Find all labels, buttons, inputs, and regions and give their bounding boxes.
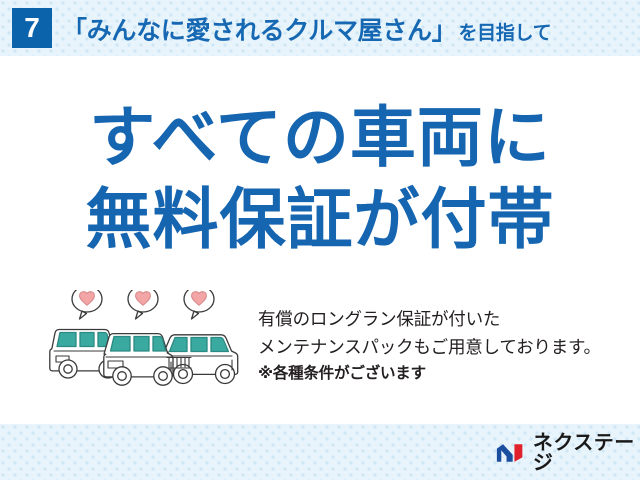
- header-title-suffix: を目指して: [458, 18, 551, 45]
- car-minivan: [104, 334, 173, 386]
- section-number-badge: 7: [12, 8, 52, 48]
- body-copy-line-2: メンテナンスパックもご用意しております。: [258, 333, 630, 361]
- body-copy-line-1: 有償のロングラン保証が付いた: [258, 305, 630, 333]
- brand-logo: ネクステージ: [496, 439, 640, 467]
- heart-bubble-2: [128, 290, 158, 319]
- headline-line-1: すべての車両に: [0, 96, 640, 178]
- body-copy: 有償のロングラン保証が付いた メンテナンスパックもご用意しております。 ※各種条…: [258, 305, 630, 387]
- main-headline: すべての車両に 無料保証が付帯: [0, 96, 640, 260]
- header-title-main: 「みんなに愛されるクルマ屋さん」: [62, 11, 456, 47]
- promotional-banner: 7 「みんなに愛されるクルマ屋さん」 を目指して すべての車両に 無料保証が付帯: [0, 0, 640, 480]
- nextage-n-mark-icon: [496, 441, 526, 465]
- headline-line-2: 無料保証が付帯: [0, 178, 640, 260]
- cars-illustration-svg: [46, 290, 261, 395]
- cars-illustration: [46, 290, 261, 395]
- body-copy-note: ※各種条件がございます: [258, 361, 630, 387]
- heart-bubble-1: [72, 290, 102, 319]
- car-suv: [164, 335, 238, 384]
- header-title: 「みんなに愛されるクルマ屋さん」 を目指して: [62, 11, 551, 45]
- heart-bubble-3: [184, 290, 214, 319]
- brand-name: ネクステージ: [533, 433, 640, 473]
